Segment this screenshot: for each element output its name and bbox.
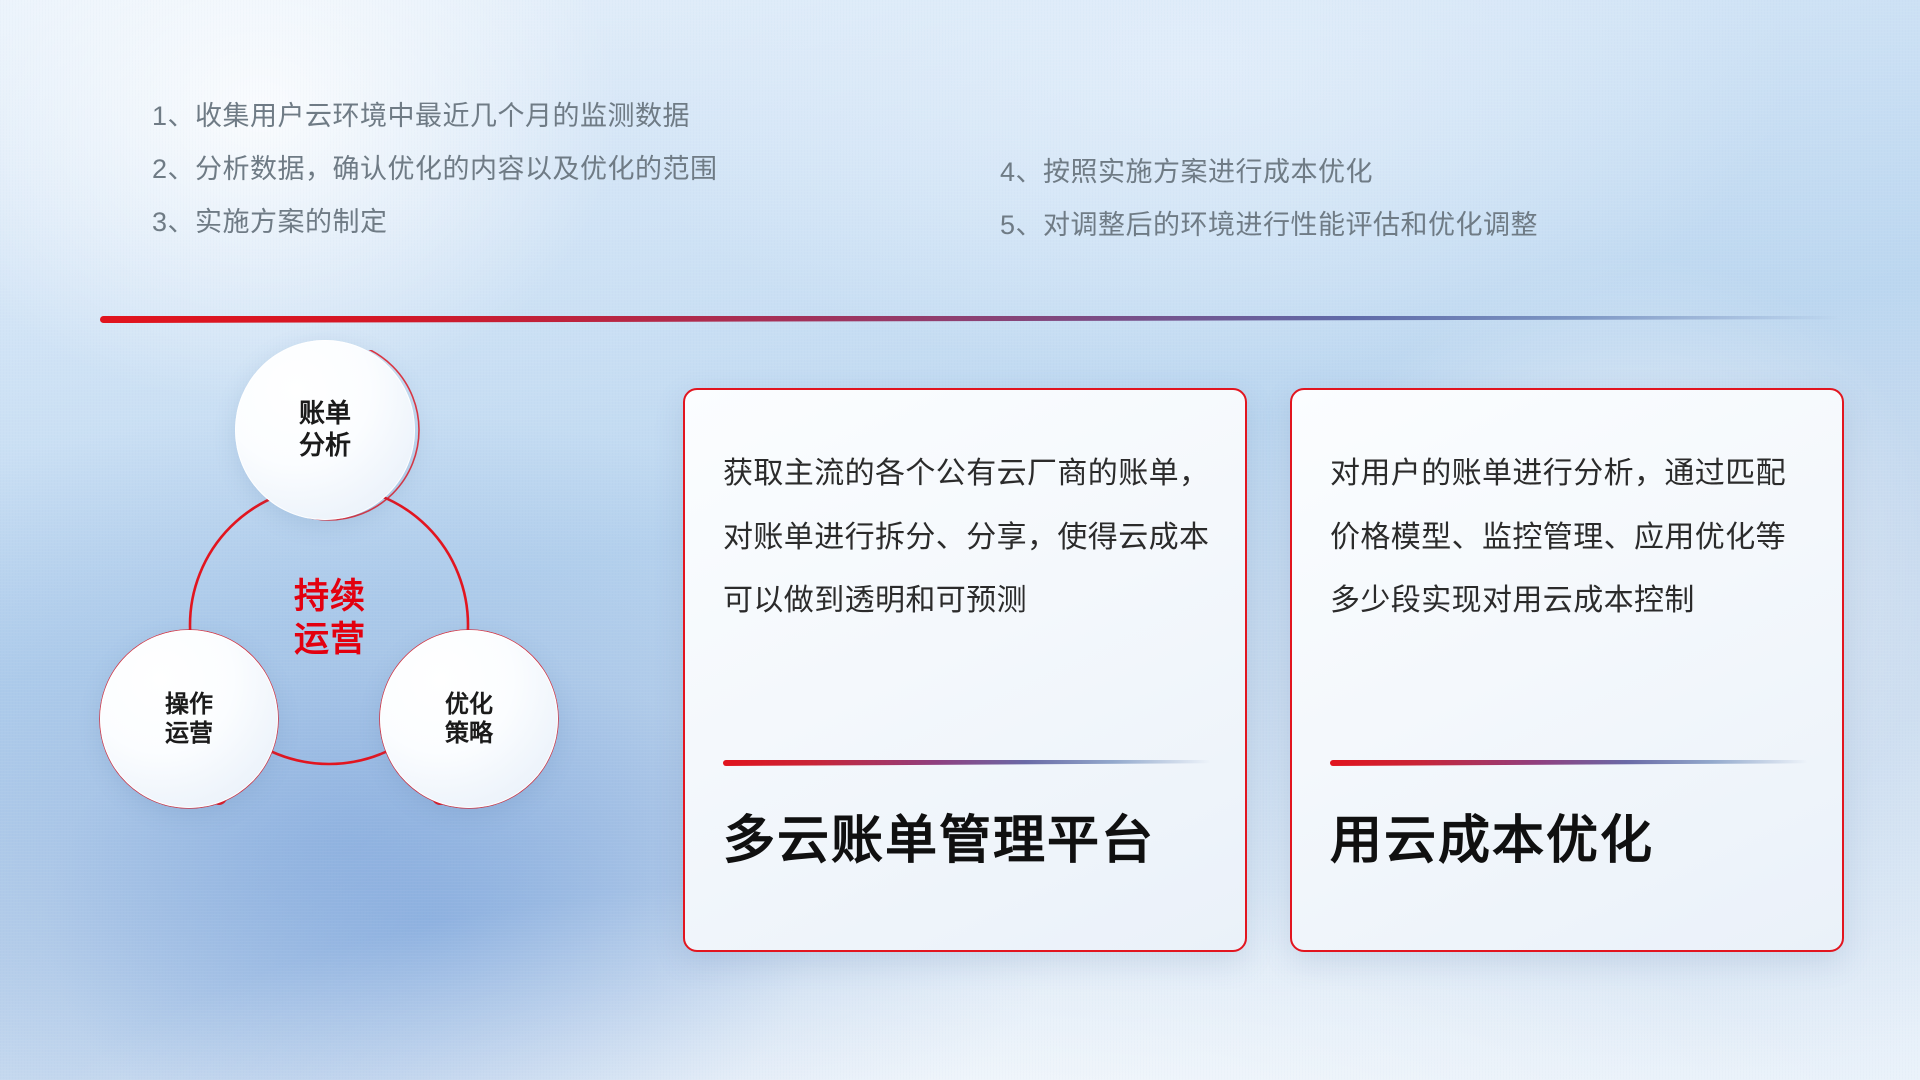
- card-cloud-cost-optimization-title: 用云成本优化: [1330, 810, 1654, 872]
- diagram-center-label-line1: 持续: [245, 575, 415, 618]
- card-multi-cloud-billing-title: 多云账单管理平台: [723, 810, 1155, 872]
- bubble-bill-analysis[interactable]: 账单 分析: [235, 340, 415, 520]
- diagram-center-label-line2: 运营: [245, 618, 415, 661]
- step-item-3: 3、实施方案的制定: [152, 209, 718, 236]
- bubble-operations-line2: 运营: [165, 719, 213, 748]
- card-cloud-cost-optimization-rule: [1330, 760, 1808, 766]
- card-cloud-cost-optimization[interactable]: 对用户的账单进行分析，通过匹配价格模型、监控管理、应用优化等多少段实现对用云成本…: [1290, 388, 1844, 952]
- steps-right-column: 4、按照实施方案进行成本优化 5、对调整后的环境进行性能评估和优化调整: [1000, 159, 1538, 239]
- bubble-optimization-strategy-line2: 策略: [445, 719, 493, 748]
- bubble-optimization-strategy-line1: 优化: [445, 690, 493, 719]
- bubble-bill-analysis-line1: 账单: [299, 398, 351, 430]
- card-multi-cloud-billing-rule: [723, 760, 1211, 766]
- card-multi-cloud-billing[interactable]: 获取主流的各个公有云厂商的账单，对账单进行拆分、分享，使得云成本可以做到透明和可…: [683, 388, 1247, 952]
- card-multi-cloud-billing-body-wrap: 获取主流的各个公有云厂商的账单，对账单进行拆分、分享，使得云成本可以做到透明和可…: [723, 442, 1211, 633]
- card-cloud-cost-optimization-body: 对用户的账单进行分析，通过匹配价格模型、监控管理、应用优化等多少段实现对用云成本…: [1330, 442, 1808, 633]
- continuous-operation-diagram: 账单 分析 操作 运营 优化 策略 持续 运营: [95, 350, 655, 950]
- step-item-4: 4、按照实施方案进行成本优化: [1000, 159, 1538, 186]
- card-multi-cloud-billing-body: 获取主流的各个公有云厂商的账单，对账单进行拆分、分享，使得云成本可以做到透明和可…: [723, 442, 1211, 633]
- card-cloud-cost-optimization-body-wrap: 对用户的账单进行分析，通过匹配价格模型、监控管理、应用优化等多少段实现对用云成本…: [1330, 442, 1808, 633]
- step-item-5: 5、对调整后的环境进行性能评估和优化调整: [1000, 212, 1538, 239]
- bubble-operations-line1: 操作: [165, 690, 213, 719]
- bubble-bill-analysis-line2: 分析: [299, 430, 351, 462]
- step-item-2: 2、分析数据，确认优化的内容以及优化的范围: [152, 156, 718, 183]
- step-item-1: 1、收集用户云环境中最近几个月的监测数据: [152, 103, 718, 130]
- steps-left-column: 1、收集用户云环境中最近几个月的监测数据 2、分析数据，确认优化的内容以及优化的…: [152, 103, 718, 236]
- slide-canvas: 1、收集用户云环境中最近几个月的监测数据 2、分析数据，确认优化的内容以及优化的…: [0, 0, 1920, 1080]
- diagram-center-label: 持续 运营: [245, 575, 415, 662]
